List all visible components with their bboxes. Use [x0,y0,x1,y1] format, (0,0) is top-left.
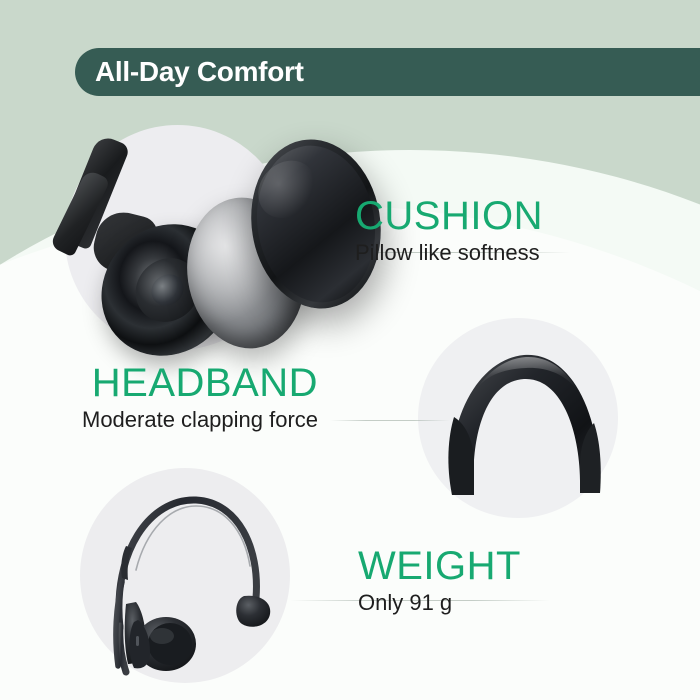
headset-earcup-highlight [150,628,174,644]
feature-block-cushion: CUSHION Pillow like softness [355,195,543,268]
cushion-subtitle: Pillow like softness [355,239,543,268]
section-header-banner: All-Day Comfort [75,48,700,96]
headset-counterweight-nub [236,596,270,627]
headset-side-button [136,636,139,646]
weight-title: WEIGHT [358,545,521,587]
mono-headset-svg [92,478,287,676]
weight-subtitle: Only 91 g [358,589,521,618]
feature-block-weight: WEIGHT Only 91 g [358,545,521,618]
headband-subtitle: Moderate clapping force [82,406,318,435]
headset-earcup-inner [148,623,192,665]
feature-block-headband: HEADBAND Moderate clapping force [82,362,318,435]
headset-mic-tip [121,546,132,580]
headband-arch-photo [430,325,615,510]
cushion-title: CUSHION [355,195,543,237]
mono-headset-photo [92,478,287,676]
headband-arch-svg [430,325,615,510]
exploded-earcup-photo [55,118,355,333]
page-title: All-Day Comfort [75,56,304,88]
headband-title: HEADBAND [82,362,318,404]
